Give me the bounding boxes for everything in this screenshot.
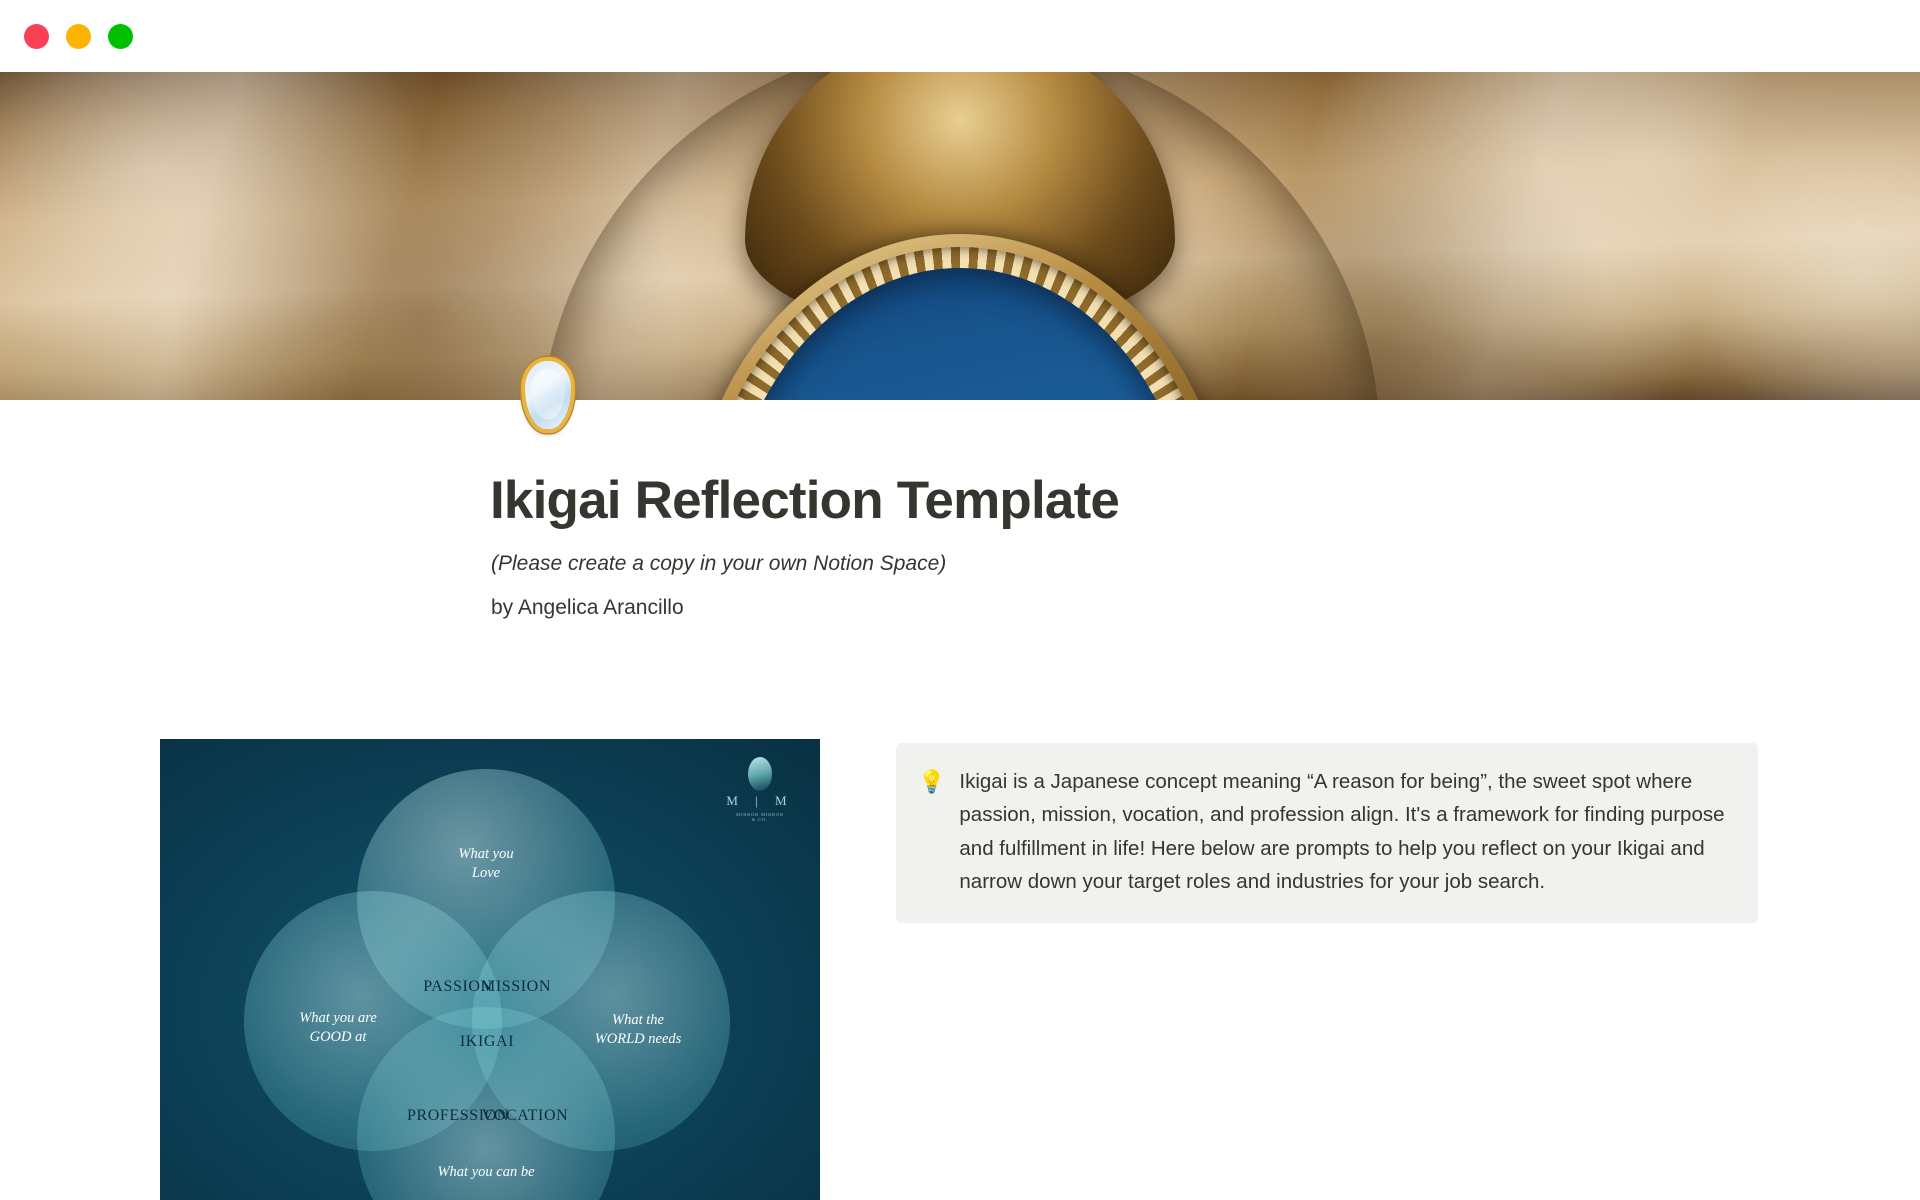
venn-label-good-at: What you are GOOD at bbox=[252, 1009, 424, 1047]
cover-image[interactable] bbox=[0, 72, 1920, 400]
ikigai-venn-diagram[interactable]: What you Love What you are GOOD at What … bbox=[160, 739, 820, 1200]
venn-label-good-line1: What you are bbox=[299, 1010, 377, 1026]
venn-label-vocation: VOCATION bbox=[462, 1107, 588, 1125]
venn-label-mission: MISSION bbox=[464, 978, 568, 996]
callout-text: Ikigai is a Japanese concept meaning “A … bbox=[959, 765, 1732, 899]
lightbulb-icon: 💡 bbox=[918, 765, 945, 899]
venn-circles bbox=[160, 739, 820, 1200]
logo-monogram: M | M bbox=[724, 793, 796, 809]
venn-label-love: What you Love bbox=[408, 845, 564, 883]
close-window-icon[interactable] bbox=[24, 24, 49, 49]
logo-mirror-oval-icon bbox=[748, 757, 772, 791]
mirror-emoji-glyph bbox=[521, 357, 575, 433]
venn-label-world-line1: What the bbox=[612, 1012, 664, 1028]
document-body: Ikigai Reflection Template (Please creat… bbox=[0, 400, 1920, 1200]
diagram-brand-logo: M | M MIRROR MIRROR & CO. bbox=[724, 757, 796, 822]
page-title[interactable]: Ikigai Reflection Template bbox=[490, 470, 1119, 531]
page-icon-mirror-icon[interactable] bbox=[521, 357, 577, 433]
venn-label-good-line2: GOOD at bbox=[310, 1029, 367, 1045]
minimize-window-icon[interactable] bbox=[66, 24, 91, 49]
venn-label-can-be: What you can be bbox=[408, 1163, 564, 1182]
page-subtitle: (Please create a copy in your own Notion… bbox=[491, 552, 946, 576]
venn-label-love-line1: What you bbox=[458, 846, 513, 862]
browser-window: Ikigai Reflection Template (Please creat… bbox=[0, 0, 1920, 1200]
logo-brand-line2: & CO. bbox=[724, 817, 796, 822]
venn-label-world-line2: WORLD needs bbox=[595, 1031, 682, 1047]
venn-label-world-needs: What the WORLD needs bbox=[552, 1011, 724, 1049]
window-titlebar bbox=[0, 0, 1920, 72]
info-callout[interactable]: 💡 Ikigai is a Japanese concept meaning “… bbox=[896, 743, 1758, 923]
maximize-window-icon[interactable] bbox=[108, 24, 133, 49]
page-byline: by Angelica Arancillo bbox=[491, 596, 684, 620]
venn-label-ikigai: IKIGAI bbox=[434, 1033, 540, 1051]
traffic-lights bbox=[24, 24, 133, 49]
venn-label-love-line2: Love bbox=[472, 865, 500, 881]
